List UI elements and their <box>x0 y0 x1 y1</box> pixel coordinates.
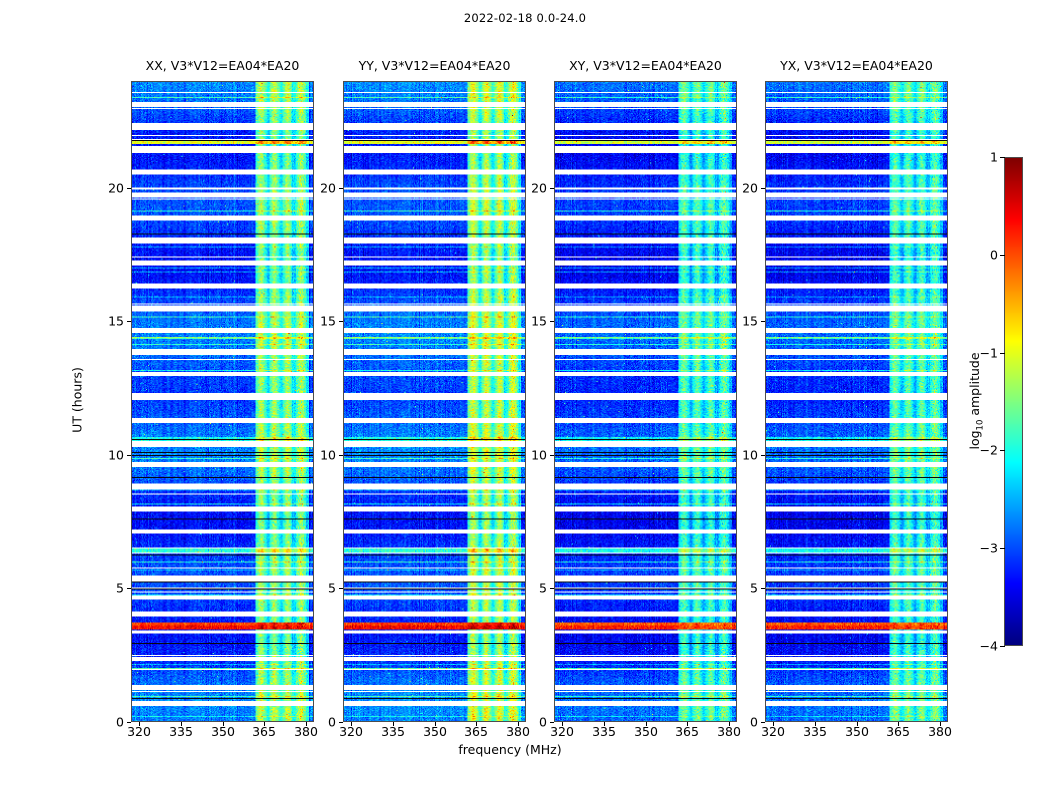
y-tick-label: 5 <box>750 581 758 596</box>
y-tick <box>761 455 765 456</box>
colorbar-tick <box>1000 646 1005 647</box>
x-tick-label: 380 <box>717 724 741 739</box>
x-axis-label: frequency (MHz) <box>0 742 1050 757</box>
colorbar-tick <box>1000 450 1005 451</box>
y-tick-label: 15 <box>531 314 547 329</box>
x-tick-label: 365 <box>886 724 910 739</box>
colorbar-tick <box>1000 548 1005 549</box>
y-tick-label: 20 <box>108 181 124 196</box>
y-tick <box>550 321 554 322</box>
y-tick <box>339 722 343 723</box>
y-tick-label: 10 <box>320 448 336 463</box>
panel-title-yx: YX, V3*V12=EA04*EA20 <box>765 58 948 73</box>
y-tick-label: 20 <box>742 181 758 196</box>
y-tick-label: 10 <box>742 448 758 463</box>
x-tick-label: 320 <box>127 724 151 739</box>
x-tick-label: 365 <box>464 724 488 739</box>
panel-title-xy: XY, V3*V12=EA04*EA20 <box>554 58 737 73</box>
colorbar-tick <box>1000 255 1005 256</box>
x-tick-label: 350 <box>634 724 658 739</box>
spectrum-image-xy <box>555 82 736 721</box>
panel-title-yy: YY, V3*V12=EA04*EA20 <box>343 58 526 73</box>
x-tick-label: 335 <box>169 724 193 739</box>
y-tick-label: 20 <box>320 181 336 196</box>
y-tick-label: 15 <box>320 314 336 329</box>
x-tick-label: 380 <box>928 724 952 739</box>
x-tick-label: 320 <box>550 724 574 739</box>
colorbar-label: log10 amplitude <box>967 352 986 449</box>
x-tick-label: 350 <box>211 724 235 739</box>
colorbar-tick <box>1000 353 1005 354</box>
colorbar[interactable] <box>1004 157 1023 646</box>
y-tick <box>761 588 765 589</box>
y-axis-label: UT (hours) <box>70 367 85 433</box>
y-tick <box>339 588 343 589</box>
panel-title-xx: XX, V3*V12=EA04*EA20 <box>131 58 314 73</box>
figure-canvas: 2022-02-18 0.0-24.0 XX, V3*V12=EA04*EA20… <box>0 0 1050 800</box>
colorbar-tick-label: −4 <box>980 639 998 654</box>
colorbar-tick-label: −3 <box>980 541 998 556</box>
y-tick-label: 0 <box>116 715 124 730</box>
x-tick-label: 335 <box>592 724 616 739</box>
y-tick-label: 5 <box>539 581 547 596</box>
spectrum-panel-yy[interactable] <box>343 81 526 722</box>
y-tick-label: 10 <box>108 448 124 463</box>
spectrum-image-yx <box>766 82 947 721</box>
y-tick <box>127 321 131 322</box>
y-tick <box>761 321 765 322</box>
colorbar-tick-label: 0 <box>990 248 998 263</box>
spectrum-image-yy <box>344 82 525 721</box>
y-tick-label: 20 <box>531 181 547 196</box>
y-tick <box>550 188 554 189</box>
spectrum-image-xx <box>132 82 313 721</box>
colorbar-tick <box>1000 157 1005 158</box>
x-tick-label: 335 <box>381 724 405 739</box>
x-tick-label: 380 <box>294 724 318 739</box>
x-tick-label: 365 <box>675 724 699 739</box>
x-tick-label: 335 <box>803 724 827 739</box>
y-tick-label: 0 <box>328 715 336 730</box>
y-tick-label: 5 <box>116 581 124 596</box>
y-tick <box>127 455 131 456</box>
y-tick <box>339 455 343 456</box>
x-tick-label: 365 <box>252 724 276 739</box>
y-tick <box>127 722 131 723</box>
x-tick-label: 350 <box>845 724 869 739</box>
y-tick-label: 10 <box>531 448 547 463</box>
y-tick <box>127 588 131 589</box>
spectrum-panel-xy[interactable] <box>554 81 737 722</box>
spectrum-panel-xx[interactable] <box>131 81 314 722</box>
x-tick-label: 320 <box>339 724 363 739</box>
y-tick-label: 15 <box>108 314 124 329</box>
colorbar-gradient <box>1005 158 1022 645</box>
x-tick-label: 350 <box>423 724 447 739</box>
colorbar-tick-label: 1 <box>990 150 998 165</box>
y-tick-label: 0 <box>539 715 547 730</box>
y-tick <box>550 722 554 723</box>
x-tick-label: 320 <box>761 724 785 739</box>
y-tick <box>339 188 343 189</box>
y-tick <box>127 188 131 189</box>
figure-suptitle: 2022-02-18 0.0-24.0 <box>0 11 1050 25</box>
spectrum-panel-yx[interactable] <box>765 81 948 722</box>
y-tick-label: 15 <box>742 314 758 329</box>
x-tick-label: 380 <box>506 724 530 739</box>
y-tick-label: 0 <box>750 715 758 730</box>
y-tick <box>550 588 554 589</box>
y-tick-label: 5 <box>328 581 336 596</box>
y-tick <box>550 455 554 456</box>
y-tick <box>761 188 765 189</box>
y-tick <box>339 321 343 322</box>
y-tick <box>761 722 765 723</box>
